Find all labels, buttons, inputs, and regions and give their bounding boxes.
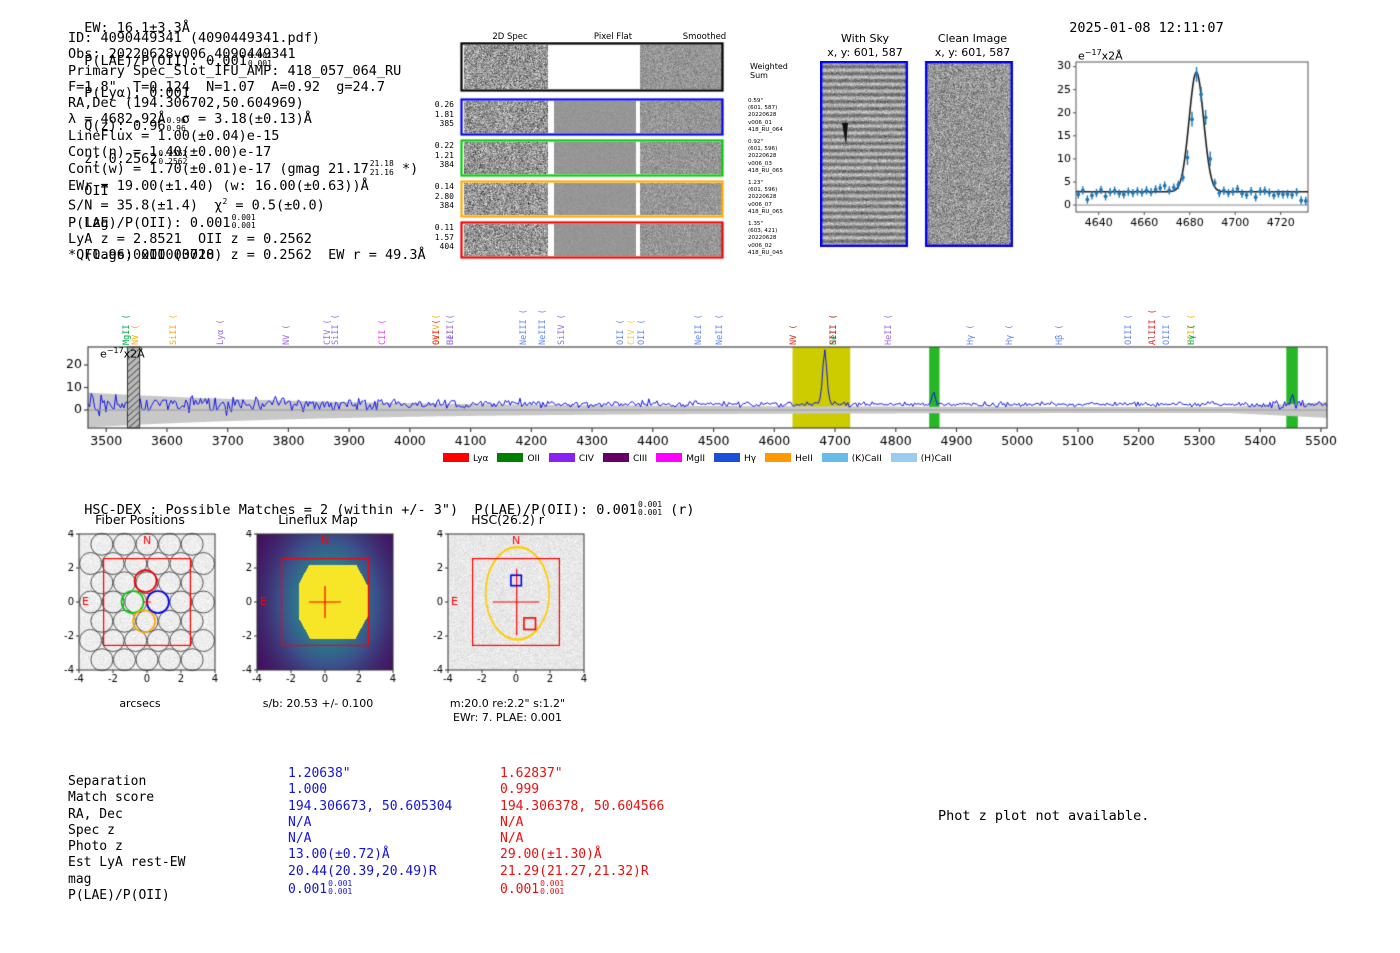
hsc-caption-2: EWr: 7. PLAE: 0.001 — [420, 711, 595, 724]
info-seeing: F=1.8" T=0.124 N=1.07 A=0.92 g=24.7 — [68, 79, 426, 95]
legend-swatch-icon — [765, 453, 791, 462]
photz-not-available-note: Phot z plot not available. — [938, 808, 1149, 824]
lineflux-caption: s/b: 20.53 +/- 0.100 — [233, 697, 403, 710]
legend-item-KCaII: (K)CaII — [822, 453, 882, 464]
legend-swatch-icon — [443, 453, 469, 462]
spectrum-line-labels: MgII (NV (SiII (Lyα (NV (CIV (SiII (CII … — [0, 260, 1400, 352]
cutout-row-metrics-3: 0.142.80384 — [420, 182, 454, 211]
legend-label: CIV — [579, 454, 594, 464]
spectrum-legend: LyαOIICIVCIIIMgIIHγHeII(K)CaII(H)CaII — [443, 446, 961, 465]
lineflux-map-panel: Lineflux Map s/b: 20.53 +/- 0.100 — [233, 512, 403, 712]
spectral-line-label-6: SiII ( — [332, 288, 341, 345]
detection-info-block: ID: 4090449341 (4090449341.pdf) Obs: 202… — [68, 30, 426, 264]
match-col1-value-1: 1.000 — [288, 782, 452, 798]
legend-label: Hγ — [744, 454, 756, 464]
legend-item-Hγ: Hγ — [714, 453, 756, 464]
clean-image-title: Clean Image — [925, 32, 1020, 45]
hsc-caption-1: m:20.0 re:2.2" s:1.2" — [420, 697, 595, 710]
match-label-6: mag — [68, 872, 185, 888]
spectral-line-label-18: NeII ( — [695, 288, 704, 345]
hsc-image-panel: HSC(26.2) r m:20.0 re:2.2" s:1.2" EWr: 7… — [420, 512, 595, 727]
legend-item-Lyα: Lyα — [443, 453, 488, 464]
legend-item-MgII: MgII — [656, 453, 705, 464]
info-plae-range: 0.0010.001 — [232, 214, 256, 230]
match-col1-value-4: N/A — [288, 831, 452, 847]
spectral-line-label-19: NeII ( — [716, 288, 725, 345]
legend-label: OII — [527, 454, 539, 464]
info-cont-n: Cont(n) = 1.40(±0.00)e-17 — [68, 144, 426, 160]
spectrum-ylabel: e−17x2Å — [100, 346, 145, 361]
match-col1-value-7: 0.0010.0010.001 — [288, 880, 452, 898]
legend-swatch-icon — [497, 453, 523, 462]
info-cont-w: Cont(w) = 1.70(±0.01)e-17 (gmag 21.1721.… — [68, 160, 426, 177]
spectral-line-label-25: Hγ ( — [1006, 288, 1015, 345]
spectral-line-label-12: NeIII ( — [520, 288, 529, 345]
match-col2-value-0: 1.62837" — [500, 766, 664, 782]
legend-label: HeII — [795, 454, 813, 464]
info-ewr: EWr = 19.00(±1.40) (w: 16.00(±0.63))Å — [68, 178, 426, 194]
cutout-row-metrics-4: 0.111.57404 — [420, 223, 454, 252]
sky-image-panels: With Sky x, y: 601, 587 Clean Image x, y… — [820, 32, 1020, 252]
info-plae: P(LAE)/P(OII): 0.0010.0010.001 — [68, 214, 426, 231]
emission-line-plot: e−17x2Å — [1030, 40, 1315, 255]
spectral-line-label-16: CIV ( — [628, 288, 637, 345]
legend-item-HeII: HeII — [765, 453, 813, 464]
match-col1-value-6: 20.44(20.39,20.49)R — [288, 864, 452, 880]
legend-item-HCaII: (H)CaII — [891, 453, 952, 464]
spectral-line-label-20: NV ( — [790, 288, 799, 345]
spectral-line-label-2: SiII ( — [170, 288, 179, 345]
cutout-images — [420, 42, 760, 260]
hsc-panel-title: HSC(26.2) r — [420, 512, 595, 527]
match-col1-value-3: N/A — [288, 815, 452, 831]
match-col2-value-6: 21.29(21.27,21.32)R — [500, 864, 664, 880]
cutout-col-title-smoothed: Smoothed — [657, 32, 752, 42]
spectral-line-label-15: OII ( — [617, 288, 626, 345]
cutout-row-metrics-2: 0.221.21384 — [420, 141, 454, 170]
match-col2-value-5: 29.00(±1.30)Å — [500, 847, 664, 863]
spectral-line-label-28: AlIII ( — [1149, 288, 1158, 345]
spectral-line-label-3: Lyα ( — [217, 288, 226, 345]
legend-swatch-icon — [549, 453, 575, 462]
info-lineflux: LineFlux = 1.00(±0.04)e-15 — [68, 128, 426, 144]
spectral-line-label-26: Hβ ( — [1056, 288, 1065, 345]
legend-label: (H)CaII — [921, 454, 952, 464]
match-label-0: Separation — [68, 774, 185, 790]
legend-swatch-icon — [822, 453, 848, 462]
hsc-image-canvas — [420, 530, 595, 695]
spectrum-canvas — [60, 345, 1350, 455]
emission-line-canvas — [1030, 40, 1315, 255]
spectral-line-label-9: OVI ( — [433, 288, 442, 345]
spectral-line-label-7: CII ( — [379, 288, 388, 345]
match-table-column-2: 1.62837"0.999194.306378, 50.604566N/AN/A… — [500, 766, 664, 898]
legend-label: CIII — [633, 454, 647, 464]
spectral-line-label-27: OIII ( — [1125, 288, 1134, 345]
lineflux-panel-title: Lineflux Map — [233, 512, 403, 527]
match-col1-value-5: 13.00(±0.72)Å — [288, 847, 452, 863]
full-spectrum-section: MgII (NV (SiII (Lyα (NV (CIV (SiII (CII … — [0, 260, 1400, 470]
match-table-labels: SeparationMatch scoreRA, DecSpec zPhoto … — [68, 774, 185, 904]
info-obs: Obs: 20220628v006_4090449341 — [68, 46, 426, 62]
fiber-positions-panel: Fiber Positions arcsecs — [55, 512, 225, 712]
spectral-line-label-17: OII ( — [638, 288, 647, 345]
match-table-column-1: 1.20638"1.000194.306673, 50.605304N/AN/A… — [288, 766, 452, 898]
cutout-row-info-2: 0.92" (601, 596) 20220628 v006_03 418_RU… — [748, 139, 783, 175]
legend-label: (K)CaII — [852, 454, 882, 464]
spectral-line-label-23: HeII ( — [885, 288, 894, 345]
cutout-col-title-2dspec: 2D Spec — [460, 32, 560, 42]
match-col2-value-1: 0.999 — [500, 782, 664, 798]
cutout-row-info-4: 1.35" (603, 421) 20220628 v006_02 418_RU… — [748, 221, 783, 257]
fiber-xlabel: arcsecs — [55, 697, 225, 710]
info-radec: RA,Dec (194.306702,50.604969) — [68, 95, 426, 111]
info-gmag-range: 21.1821.16 — [370, 160, 394, 176]
header-timestamp: 2025-01-08 12:11:07 — [1069, 20, 1223, 36]
legend-swatch-icon — [714, 453, 740, 462]
cutout-row-info-3: 1.23" (601, 596) 20220628 v006_07 418_RU… — [748, 180, 783, 216]
info-sn: S/N = 35.8(±1.4) χ2 = 0.5(±0.0) — [68, 194, 426, 214]
spectral-line-label-13: NeIII ( — [539, 288, 548, 345]
spectral-line-label-22: SIII ( — [830, 288, 839, 345]
clean-image-coords: x, y: 601, 587 — [925, 46, 1020, 59]
fiber-panel-title: Fiber Positions — [55, 512, 225, 527]
match-col2-value-4: N/A — [500, 831, 664, 847]
sky-image-canvas — [820, 61, 1020, 249]
match-label-5: Est LyA rest-EW — [68, 855, 185, 871]
lineflux-map-canvas — [233, 530, 403, 695]
fiber-positions-canvas — [55, 530, 225, 695]
legend-swatch-icon — [603, 453, 629, 462]
spectral-line-label-31: Hγ ( — [1188, 288, 1197, 345]
legend-label: MgII — [686, 454, 705, 464]
weighted-sum-label: Weighted Sum — [750, 62, 788, 80]
with-sky-title: With Sky — [820, 32, 910, 45]
hscdex-plae-range: 0.0010.001 — [638, 501, 662, 517]
with-sky-coords: x, y: 601, 587 — [820, 46, 910, 59]
info-primary-spec: Primary Spec_Slot_IFU_AMP: 418_057_064_R… — [68, 63, 426, 79]
spectral-line-label-14: SiIV ( — [558, 288, 567, 345]
legend-label: Lyα — [473, 454, 488, 464]
match-col2-value-2: 194.306378, 50.604566 — [500, 799, 664, 815]
match-col2-value-3: N/A — [500, 815, 664, 831]
match-col2-value-7: 0.0010.0010.001 — [500, 880, 664, 898]
spectral-line-label-24: Hγ ( — [967, 288, 976, 345]
info-redshifts: LyA z = 2.8521 OII z = 0.2562 — [68, 231, 426, 247]
legend-swatch-icon — [656, 453, 682, 462]
spec-cutout-grid: 2D Spec Pixel Flat Smoothed Weighted Sum… — [420, 32, 760, 257]
info-lambda: λ = 4682.92Å σ = 3.18(±0.13)Å — [68, 111, 426, 127]
legend-item-CIV: CIV — [549, 453, 594, 464]
match-label-3: Spec z — [68, 823, 185, 839]
spectral-line-label-1: NV ( — [132, 280, 141, 345]
legend-swatch-icon — [891, 453, 917, 462]
linefit-ylabel: e−17x2Å — [1078, 48, 1123, 63]
match-label-7: P(LAE)/P(OII) — [68, 888, 185, 904]
cutout-col-title-pixelflat: Pixel Flat — [568, 32, 658, 42]
match-col1-value-2: 194.306673, 50.605304 — [288, 799, 452, 815]
cutout-row-metrics-1: 0.261.81385 — [420, 100, 454, 129]
match-label-2: RA, Dec — [68, 807, 185, 823]
spectral-line-label-4: NV ( — [283, 288, 292, 345]
match-label-1: Match score — [68, 790, 185, 806]
spectral-line-label-29: OIII ( — [1163, 288, 1172, 345]
match-label-4: Photo z — [68, 839, 185, 855]
legend-item-CIII: CIII — [603, 453, 647, 464]
cutout-row-info-1: 0.59" (601, 587) 20220628 v006_01 418_RU… — [748, 98, 783, 134]
legend-item-OII: OII — [497, 453, 539, 464]
info-id: ID: 4090449341 (4090449341.pdf) — [68, 30, 426, 46]
match-col1-value-0: 1.20638" — [288, 766, 452, 782]
spectral-line-label-11: HeII ( — [447, 288, 456, 345]
